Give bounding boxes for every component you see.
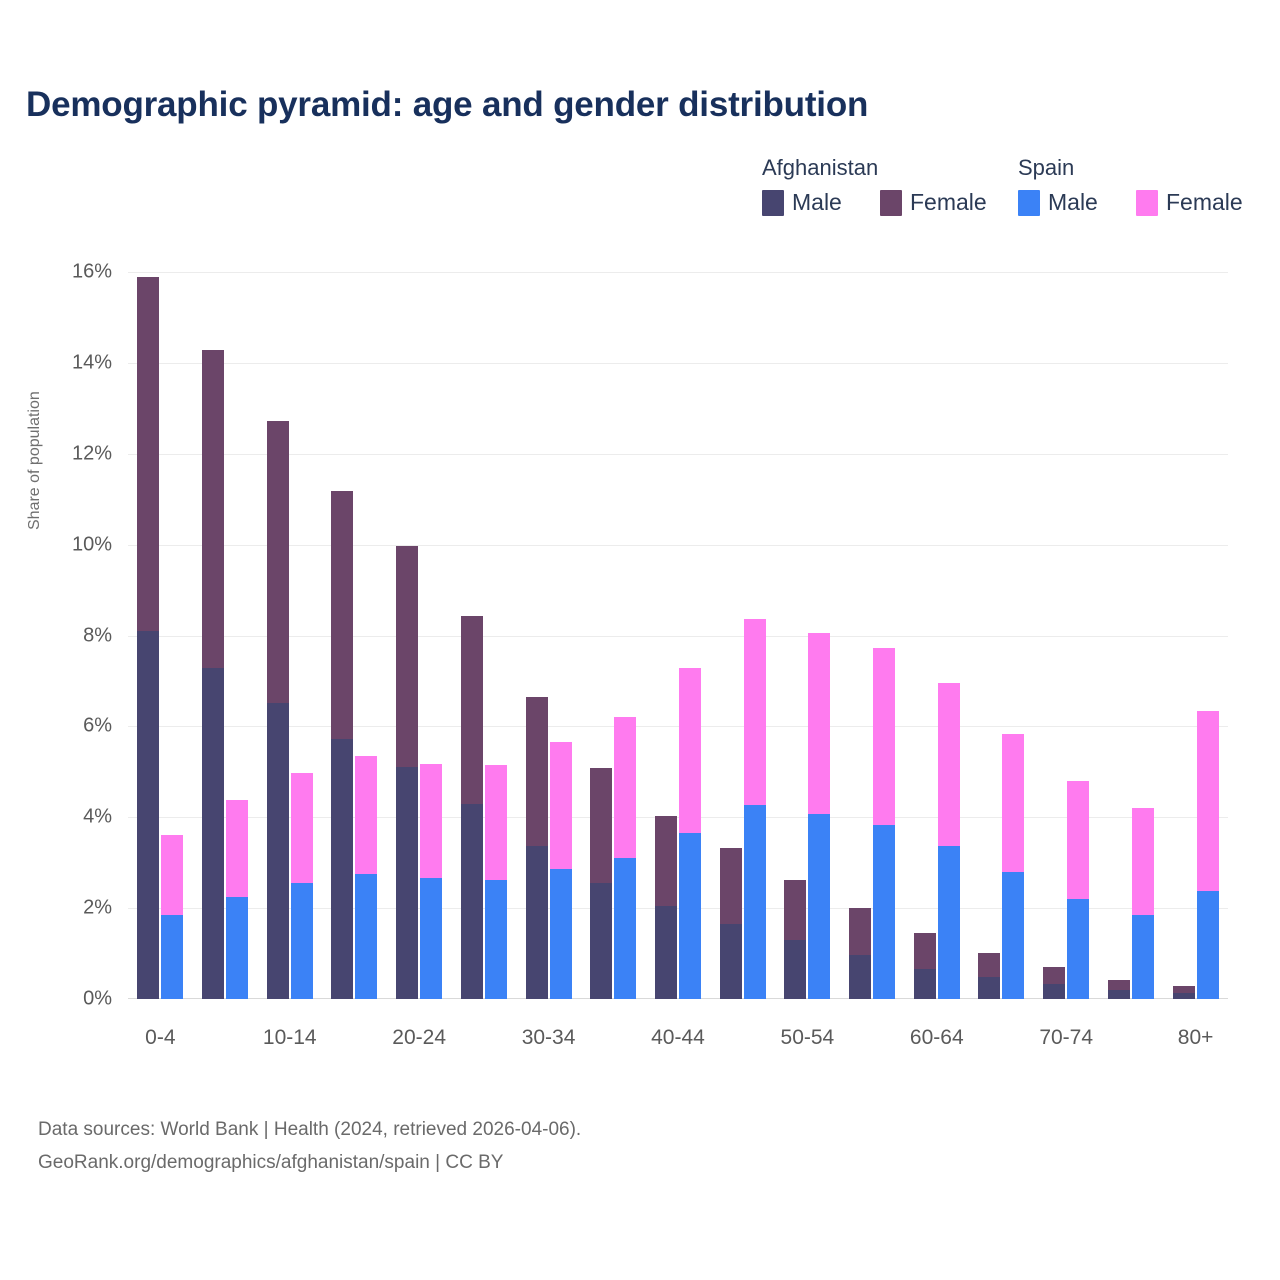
chart-page: Demographic pyramid: age and gender dist… — [0, 0, 1280, 1280]
bar-segment-afghanistan-male[interactable] — [1043, 984, 1065, 999]
bar-segment-spain-female[interactable] — [744, 619, 766, 805]
bar-afghanistan[interactable] — [137, 277, 159, 999]
bar-segment-afghanistan-male[interactable] — [1108, 990, 1130, 999]
bar-segment-spain-female[interactable] — [420, 764, 442, 879]
bar-segment-afghanistan-female[interactable] — [784, 880, 806, 940]
bar-segment-afghanistan-male[interactable] — [331, 739, 353, 999]
y-tick-label: 0% — [2, 988, 112, 1011]
bar-segment-afghanistan-female[interactable] — [1108, 980, 1130, 990]
bar-groups — [128, 272, 1228, 999]
bar-segment-afghanistan-male[interactable] — [461, 804, 483, 999]
y-axis-ticks: 0%2%4%6%8%10%12%14%16% — [0, 272, 112, 999]
bar-segment-spain-male[interactable] — [420, 878, 442, 999]
bar-afghanistan[interactable] — [1043, 967, 1065, 999]
x-tick-label — [193, 1012, 258, 1052]
bar-segment-spain-male[interactable] — [1067, 899, 1089, 999]
bar-group — [322, 272, 387, 999]
plot-canvas — [128, 272, 1228, 999]
y-tick-label: 2% — [2, 897, 112, 920]
bar-spain[interactable] — [1132, 808, 1154, 999]
bar-segment-spain-male[interactable] — [226, 897, 248, 999]
bar-group — [387, 272, 452, 999]
bar-segment-afghanistan-female[interactable] — [202, 350, 224, 668]
bar-afghanistan[interactable] — [655, 816, 677, 999]
x-tick-label — [452, 1012, 517, 1052]
bar-afghanistan[interactable] — [1173, 986, 1195, 999]
bar-segment-spain-female[interactable] — [550, 742, 572, 868]
bar-group — [646, 272, 711, 999]
plot-area: Share of population 0%2%4%6%8%10%12%14%1… — [0, 0, 1280, 1280]
bar-afghanistan[interactable] — [1108, 980, 1130, 999]
bar-afghanistan[interactable] — [267, 421, 289, 999]
bar-segment-afghanistan-female[interactable] — [1043, 967, 1065, 984]
bar-segment-afghanistan-female[interactable] — [655, 816, 677, 906]
bar-segment-spain-female[interactable] — [808, 633, 830, 813]
bar-segment-spain-female[interactable] — [1132, 808, 1154, 915]
bar-segment-spain-male[interactable] — [808, 814, 830, 999]
y-tick-label: 10% — [2, 533, 112, 556]
bar-segment-afghanistan-male[interactable] — [396, 767, 418, 999]
bar-afghanistan[interactable] — [784, 880, 806, 1000]
bar-afghanistan[interactable] — [590, 768, 612, 999]
x-tick-label: 70-74 — [1034, 1012, 1099, 1052]
bar-group — [775, 272, 840, 999]
bar-spain[interactable] — [420, 764, 442, 999]
bar-spain[interactable] — [1197, 711, 1219, 999]
x-tick-label: 20-24 — [387, 1012, 452, 1052]
x-axis-ticks: 0-410-1420-2430-3440-4450-5460-6470-7480… — [128, 1012, 1228, 1052]
bar-group — [128, 272, 193, 999]
bar-segment-afghanistan-male[interactable] — [720, 924, 742, 999]
bar-segment-afghanistan-female[interactable] — [526, 697, 548, 846]
bar-segment-spain-female[interactable] — [485, 765, 507, 880]
bar-spain[interactable] — [873, 648, 895, 999]
bar-segment-afghanistan-male[interactable] — [267, 703, 289, 999]
bar-segment-spain-female[interactable] — [355, 756, 377, 873]
bar-segment-afghanistan-female[interactable] — [914, 933, 936, 968]
y-tick-label: 12% — [2, 442, 112, 465]
x-tick-label: 40-44 — [646, 1012, 711, 1052]
bar-segment-afghanistan-female[interactable] — [267, 421, 289, 703]
bar-segment-afghanistan-female[interactable] — [720, 848, 742, 924]
bar-spain[interactable] — [1002, 734, 1024, 999]
bar-group — [1163, 272, 1228, 999]
bar-group — [452, 272, 517, 999]
bar-group — [257, 272, 322, 999]
bar-segment-spain-male[interactable] — [1197, 891, 1219, 999]
bar-segment-afghanistan-male[interactable] — [914, 969, 936, 999]
x-tick-label: 60-64 — [904, 1012, 969, 1052]
x-tick-label — [710, 1012, 775, 1052]
bar-segment-spain-female[interactable] — [1067, 781, 1089, 899]
x-tick-label: 30-34 — [516, 1012, 581, 1052]
bar-spain[interactable] — [808, 633, 830, 999]
bar-segment-spain-male[interactable] — [614, 858, 636, 999]
bar-segment-spain-male[interactable] — [485, 880, 507, 999]
bar-segment-spain-male[interactable] — [550, 869, 572, 999]
bar-segment-spain-male[interactable] — [873, 825, 895, 999]
x-tick-label: 80+ — [1163, 1012, 1228, 1052]
bar-spain[interactable] — [1067, 781, 1089, 999]
bar-segment-spain-male[interactable] — [161, 915, 183, 999]
y-tick-label: 14% — [2, 351, 112, 374]
bar-segment-afghanistan-female[interactable] — [590, 768, 612, 883]
bar-segment-afghanistan-male[interactable] — [590, 883, 612, 999]
bar-segment-spain-male[interactable] — [744, 805, 766, 999]
bar-spain[interactable] — [355, 756, 377, 999]
bar-segment-afghanistan-male[interactable] — [849, 955, 871, 999]
bar-segment-spain-female[interactable] — [1197, 711, 1219, 890]
bar-segment-spain-male[interactable] — [355, 874, 377, 999]
bar-group — [1099, 272, 1164, 999]
footer-line-1: Data sources: World Bank | Health (2024,… — [38, 1113, 581, 1146]
bar-spain[interactable] — [550, 742, 572, 999]
bar-segment-spain-male[interactable] — [1002, 872, 1024, 999]
bar-group — [581, 272, 646, 999]
x-tick-label — [322, 1012, 387, 1052]
y-tick-label: 8% — [2, 624, 112, 647]
bar-segment-afghanistan-male[interactable] — [1173, 993, 1195, 999]
bar-segment-spain-female[interactable] — [226, 800, 248, 897]
bar-segment-afghanistan-female[interactable] — [331, 491, 353, 739]
bar-afghanistan[interactable] — [978, 953, 1000, 999]
footer-line-2: GeoRank.org/demographics/afghanistan/spa… — [38, 1146, 581, 1179]
bar-segment-afghanistan-male[interactable] — [784, 940, 806, 999]
bar-segment-afghanistan-female[interactable] — [396, 546, 418, 768]
bar-segment-afghanistan-female[interactable] — [137, 277, 159, 631]
bar-segment-afghanistan-female[interactable] — [978, 953, 1000, 978]
bar-segment-spain-female[interactable] — [679, 668, 701, 832]
bar-spain[interactable] — [291, 773, 313, 999]
bar-spain[interactable] — [161, 835, 183, 999]
bar-afghanistan[interactable] — [914, 933, 936, 999]
x-tick-label — [1099, 1012, 1164, 1052]
bar-segment-afghanistan-female[interactable] — [1173, 986, 1195, 993]
x-tick-label: 50-54 — [775, 1012, 840, 1052]
bar-group — [1034, 272, 1099, 999]
x-tick-label — [840, 1012, 905, 1052]
bar-spain[interactable] — [744, 619, 766, 999]
bar-afghanistan[interactable] — [396, 546, 418, 999]
bar-segment-afghanistan-male[interactable] — [137, 631, 159, 999]
bar-segment-afghanistan-female[interactable] — [849, 908, 871, 955]
x-tick-label — [969, 1012, 1034, 1052]
bar-segment-spain-female[interactable] — [291, 773, 313, 883]
bar-segment-spain-female[interactable] — [938, 683, 960, 846]
bar-group — [840, 272, 905, 999]
y-tick-label: 16% — [2, 261, 112, 284]
bar-segment-spain-male[interactable] — [679, 833, 701, 999]
bar-segment-spain-female[interactable] — [873, 648, 895, 825]
bar-segment-spain-female[interactable] — [614, 717, 636, 858]
bar-segment-afghanistan-male[interactable] — [978, 977, 1000, 999]
bar-group — [969, 272, 1034, 999]
bar-segment-spain-female[interactable] — [1002, 734, 1024, 872]
footer: Data sources: World Bank | Health (2024,… — [38, 1113, 581, 1180]
x-tick-label: 10-14 — [257, 1012, 322, 1052]
bar-group — [904, 272, 969, 999]
bar-afghanistan[interactable] — [461, 616, 483, 999]
bar-spain[interactable] — [485, 765, 507, 999]
bar-spain[interactable] — [226, 800, 248, 999]
x-tick-label: 0-4 — [128, 1012, 193, 1052]
bar-spain[interactable] — [938, 683, 960, 999]
bar-spain[interactable] — [679, 668, 701, 999]
bar-afghanistan[interactable] — [849, 908, 871, 999]
bar-afghanistan[interactable] — [526, 697, 548, 999]
bar-group — [193, 272, 258, 999]
bar-group — [516, 272, 581, 999]
bar-group — [710, 272, 775, 999]
x-tick-label — [581, 1012, 646, 1052]
bar-afghanistan[interactable] — [331, 491, 353, 999]
bar-segment-spain-male[interactable] — [938, 846, 960, 999]
bar-afghanistan[interactable] — [720, 848, 742, 999]
bar-segment-afghanistan-female[interactable] — [461, 616, 483, 803]
bar-afghanistan[interactable] — [202, 350, 224, 999]
bar-segment-spain-male[interactable] — [291, 883, 313, 999]
bar-spain[interactable] — [614, 717, 636, 999]
y-tick-label: 4% — [2, 806, 112, 829]
bar-segment-afghanistan-male[interactable] — [526, 846, 548, 999]
bar-segment-spain-male[interactable] — [1132, 915, 1154, 1000]
y-tick-label: 6% — [2, 715, 112, 738]
bar-segment-spain-female[interactable] — [161, 835, 183, 915]
bar-segment-afghanistan-male[interactable] — [202, 668, 224, 999]
bar-segment-afghanistan-male[interactable] — [655, 906, 677, 999]
